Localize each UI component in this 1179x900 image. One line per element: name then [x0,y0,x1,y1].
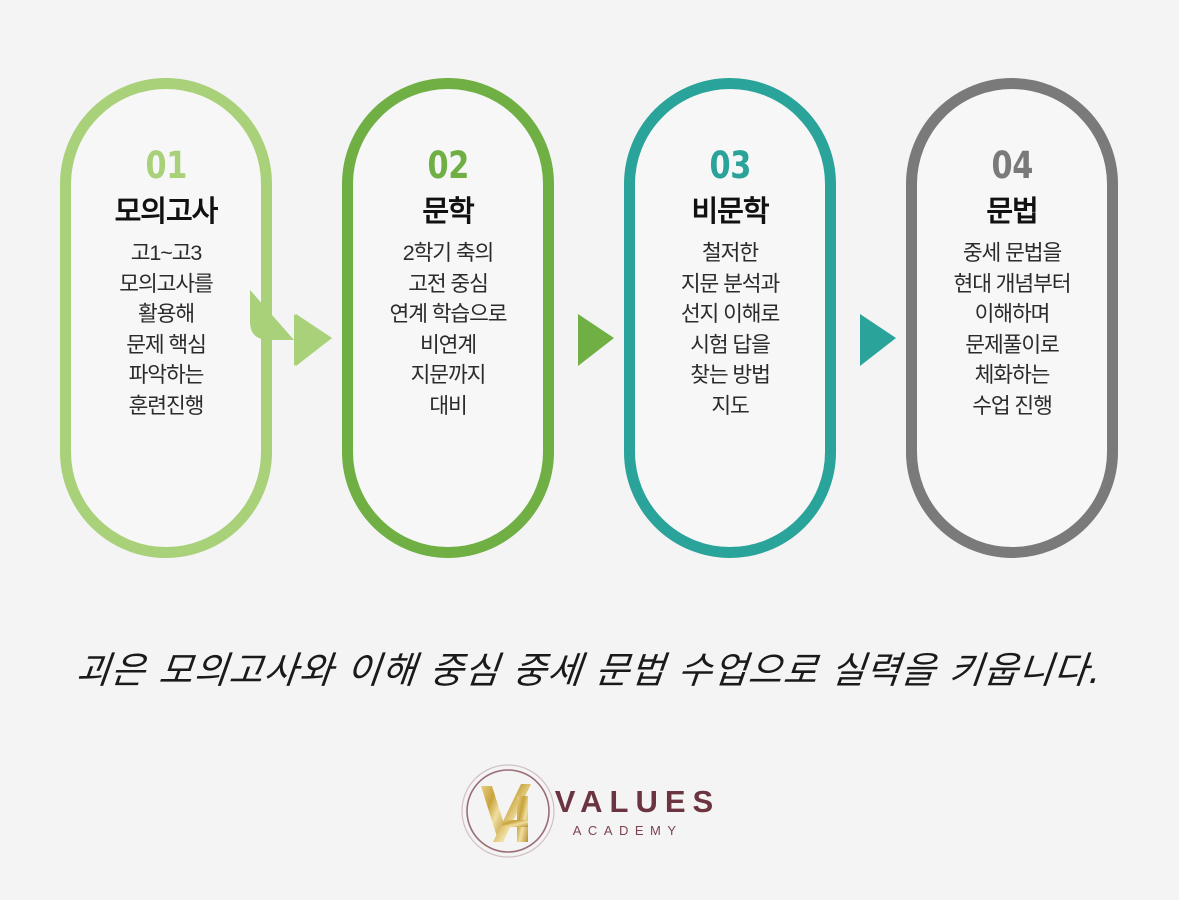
step-number-3: 03 [709,147,750,184]
step-body-line: 고전 중심 [390,269,507,300]
step-body-line: 문제 핵심 [119,330,212,361]
step-body-4: 중세 문법을 현대 개념부터 이해하며 문제풀이로 체화하는 수업 진행 [948,238,1077,421]
step-body-2: 2학기 축의 고전 중심 연계 학습으로 비연계 지문까지 대비 [384,238,513,421]
step-body-line: 훈련진행 [119,391,212,422]
brand-logo: VALUES ACADEMY [0,762,1179,860]
step-body-line: 대비 [390,391,507,422]
step-body-line: 연계 학습으로 [390,299,507,330]
step-card-1[interactable]: 01 모의고사 고1~고3 모의고사를 활용해 문제 핵심 파악하는 훈련진행 [60,78,272,558]
step-card-3[interactable]: 03 비문학 철저한 지문 분석과 선지 이해로 시험 답을 찾는 방법 지도 [624,78,836,558]
step-body-line: 지문 분석과 [681,269,779,300]
step-body-line: 지도 [681,391,779,422]
va-monogram-icon [459,762,557,860]
step-body-line: 수업 진행 [954,391,1071,422]
step-body-line: 고1~고3 [119,238,212,269]
process-steps-row: 01 모의고사 고1~고3 모의고사를 활용해 문제 핵심 파악하는 훈련진행 … [0,78,1179,568]
step-title-2: 문학 [422,196,473,229]
step-body-3: 철저한 지문 분석과 선지 이해로 시험 답을 찾는 방법 지도 [675,238,785,421]
step-title-4: 문법 [986,196,1037,229]
step-card-4[interactable]: 04 문법 중세 문법을 현대 개념부터 이해하며 문제풀이로 체화하는 수업 … [906,78,1118,558]
step-body-line: 파악하는 [119,360,212,391]
step-body-line: 선지 이해로 [681,299,779,330]
step-body-line: 체화하는 [954,360,1071,391]
logo-name-text: VALUES [555,786,720,817]
tagline-text: 괴은 모의고사와 이해 중심 중세 문법 수업으로 실력을 키웁니다. [0,640,1179,694]
logo-subtitle-text: ACADEMY [573,824,683,837]
step-body-line: 철저한 [681,238,779,269]
step-body-line: 이해하며 [954,299,1071,330]
step-body-line: 2학기 축의 [390,238,507,269]
step-card-2[interactable]: 02 문학 2학기 축의 고전 중심 연계 학습으로 비연계 지문까지 대비 [342,78,554,558]
step-body-line: 지문까지 [390,360,507,391]
step-body-line: 시험 답을 [681,330,779,361]
step-number-1: 01 [145,147,186,184]
logo-monogram-mark [459,762,557,860]
step-body-line: 문제풀이로 [954,330,1071,361]
step-body-line: 비연계 [390,330,507,361]
step-body-line: 현대 개념부터 [954,269,1071,300]
step-number-4: 04 [991,147,1032,184]
step-number-2: 02 [427,147,468,184]
step-body-line: 모의고사를 [119,269,212,300]
step-body-line: 중세 문법을 [954,238,1071,269]
step-title-3: 비문학 [691,196,768,229]
step-body-line: 활용해 [119,299,212,330]
step-body-1: 고1~고3 모의고사를 활용해 문제 핵심 파악하는 훈련진행 [113,238,218,421]
step-body-line: 찾는 방법 [681,360,779,391]
step-title-1: 모의고사 [115,196,218,229]
